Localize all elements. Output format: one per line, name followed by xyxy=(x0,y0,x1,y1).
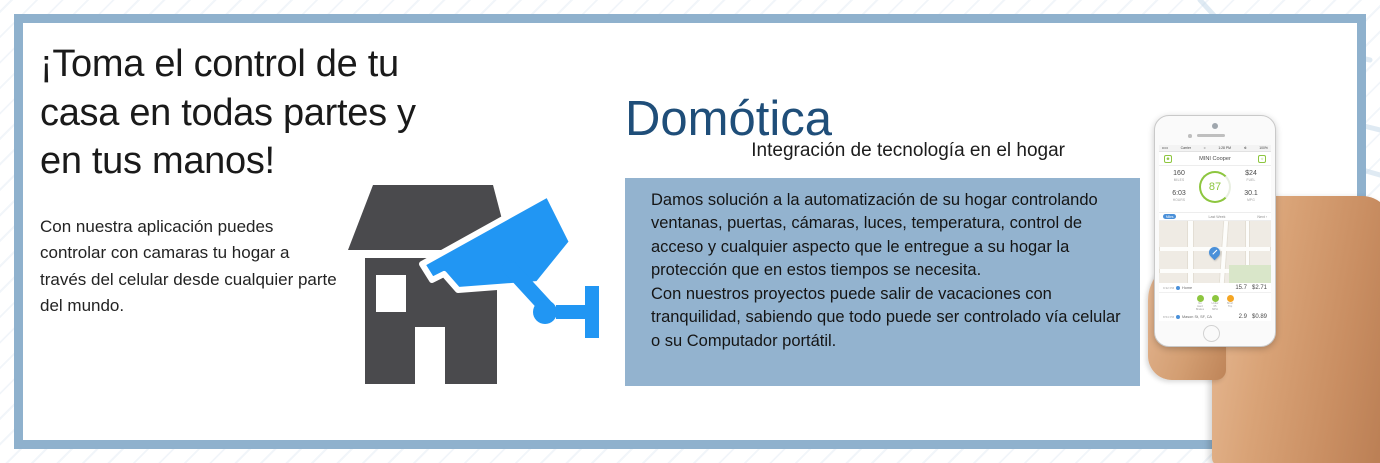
trip-dot-icon xyxy=(1176,315,1180,319)
front-camera-icon xyxy=(1212,123,1218,129)
vehicle-name-label: MINI Cooper xyxy=(1199,156,1231,162)
phone-screen: ••••• Carrier ≈ 1:28 PM ✲ 100% ☻ MINI Co… xyxy=(1159,145,1271,321)
vehicle-stats-grid: 160 MILES $24 FUEL 6:03 HOURS 30.1 MPG xyxy=(1159,166,1271,212)
trip-cost: $2.71 xyxy=(1247,285,1267,291)
trip-name: Mason St, SF, CA xyxy=(1182,315,1239,319)
trip-name: Home xyxy=(1182,286,1235,290)
user-icon[interactable]: ☻ xyxy=(1164,155,1172,163)
list-item[interactable]: 9:32 PM Home 15.7 $2.71 xyxy=(1159,283,1271,293)
battery-percentage: 100% xyxy=(1259,146,1268,150)
smartphone-device: ••••• Carrier ≈ 1:28 PM ✲ 100% ☻ MINI Co… xyxy=(1154,115,1276,347)
stat-mpg: 30.1 MPG xyxy=(1237,190,1265,202)
period-left-label[interactable]: Miles xyxy=(1163,214,1176,219)
map-road xyxy=(1187,221,1194,283)
period-next-button[interactable]: Next › xyxy=(1257,215,1267,219)
stat-fuel: $24 FUEL xyxy=(1237,170,1265,182)
app-navigation-bar: ☻ MINI Cooper ☼ xyxy=(1159,152,1271,166)
panel-paragraph-1: Damos solución a la automatización de su… xyxy=(651,189,1122,283)
stat-miles: 160 MILES xyxy=(1165,170,1193,182)
trip-cost: $0.89 xyxy=(1247,314,1267,320)
trip-list: 9:32 PM Home 15.7 $2.71 No Hard Brakes xyxy=(1159,283,1271,321)
badge-short-trip: Short Trip xyxy=(1226,295,1235,312)
badge-no-hard-brakes: No Hard Brakes xyxy=(1196,295,1205,312)
description-panel: Damos solución a la automatización de su… xyxy=(625,178,1140,386)
period-selector-bar[interactable]: Miles Last Week Next › xyxy=(1159,212,1271,221)
carrier-label: Carrier xyxy=(1181,146,1191,150)
stat-hours: 6:03 HOURS xyxy=(1165,190,1193,202)
trip-time: 8:54 PM xyxy=(1163,315,1176,319)
bluetooth-icon: ✲ xyxy=(1244,146,1247,150)
trip-time: 9:32 PM xyxy=(1163,286,1176,290)
trip-distance: 2.9 xyxy=(1239,314,1247,320)
lead-paragraph: Con nuestra aplicación puedes controlar … xyxy=(40,214,340,319)
trip-dot-icon xyxy=(1176,286,1180,290)
list-item[interactable]: 8:54 PM Mason St, SF, CA 2.9 $0.89 xyxy=(1159,313,1271,322)
panel-paragraph-2: Con nuestros proyectos puede salir de va… xyxy=(651,283,1122,353)
badge-under-65: Under 65 MPH xyxy=(1211,295,1220,312)
house-with-security-camera-illustration xyxy=(340,172,630,402)
map-park-area xyxy=(1229,265,1271,283)
phone-in-hand-photo: ••••• Carrier ≈ 1:28 PM ✲ 100% ☻ MINI Co… xyxy=(1140,110,1380,463)
earpiece-speaker xyxy=(1197,134,1225,137)
right-column: Domótica Integración de tecnología en el… xyxy=(625,95,1145,162)
signal-icon: ••••• xyxy=(1162,146,1168,150)
trip-distance: 15.7 xyxy=(1235,285,1247,291)
banner: ¡Toma el control de tu casa en todas par… xyxy=(0,0,1380,463)
trip-badges: No Hard Brakes Under 65 MPH Short Trip xyxy=(1159,293,1271,313)
driving-score-badge: 87 xyxy=(1199,171,1231,203)
proximity-sensor-icon xyxy=(1188,134,1192,138)
wifi-icon: ≈ xyxy=(1204,146,1206,150)
page-title: ¡Toma el control de tu casa en todas par… xyxy=(40,40,460,186)
bell-icon[interactable]: ☼ xyxy=(1258,155,1266,163)
status-bar: ••••• Carrier ≈ 1:28 PM ✲ 100% xyxy=(1159,145,1271,152)
home-button[interactable] xyxy=(1203,325,1220,342)
period-center-label: Last Week xyxy=(1208,215,1225,219)
brand-title: Domótica xyxy=(625,95,1145,144)
trip-map[interactable] xyxy=(1159,221,1271,283)
clock-label: 1:28 PM xyxy=(1218,146,1231,150)
